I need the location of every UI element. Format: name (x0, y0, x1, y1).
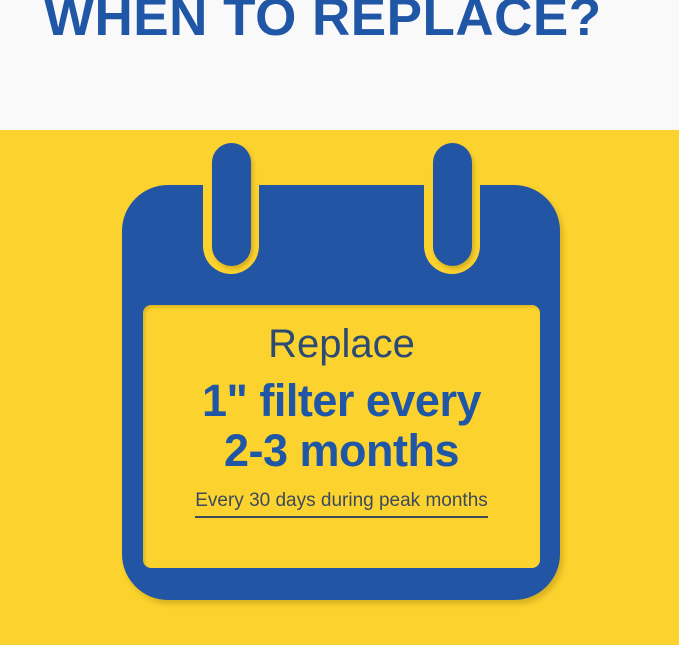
calendar-icon: Replace 1" filter every 2-3 months Every… (0, 130, 679, 645)
illustration-stage: Replace 1" filter every 2-3 months Every… (0, 130, 679, 645)
page-title: WHEN TO REPLACE? (44, 0, 644, 46)
headline-line-2: 2-3 months (224, 425, 459, 477)
calendar-ring-right (433, 143, 472, 266)
calendar-ring-left (212, 143, 251, 266)
calendar-text-block: Replace 1" filter every 2-3 months Every… (143, 305, 540, 568)
replace-label: Replace (268, 321, 415, 367)
headline-line-1: 1" filter every (202, 375, 481, 427)
header-band: WHEN TO REPLACE? (0, 0, 679, 130)
peak-months-note: Every 30 days during peak months (195, 489, 488, 518)
infographic-canvas: WHEN TO REPLACE? Replace 1" filter every… (0, 0, 679, 645)
